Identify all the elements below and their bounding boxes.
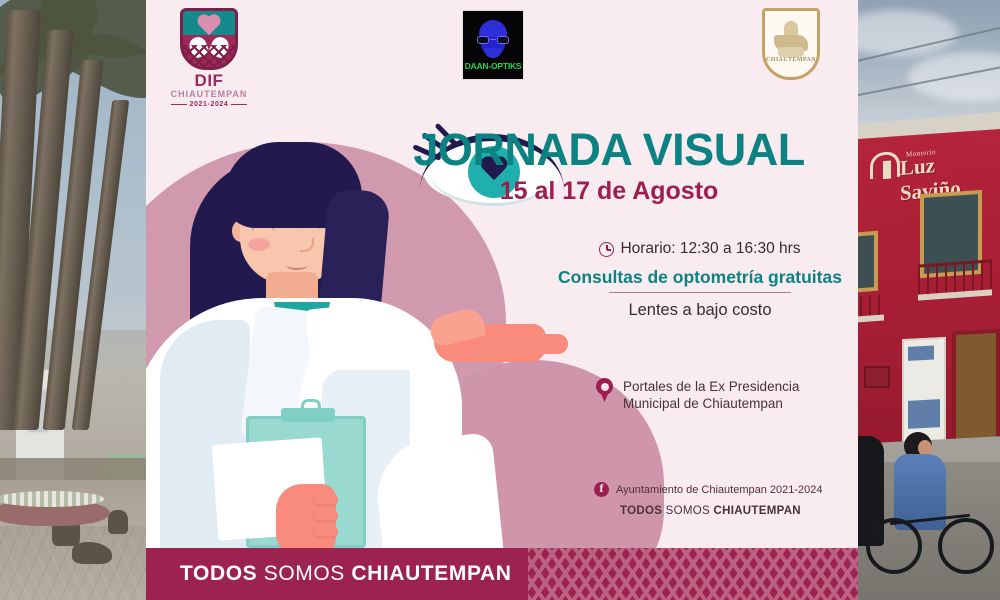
facebook-handle: Ayuntamiento de Chiautempan 2021-2024 bbox=[616, 484, 823, 496]
finger bbox=[312, 493, 338, 506]
heart-icon bbox=[196, 15, 222, 39]
map-pin-icon bbox=[596, 378, 613, 402]
bottom-slogan: TODOS SOMOS CHIAUTEMPAN bbox=[180, 562, 512, 586]
face-with-sunglasses-icon bbox=[476, 20, 510, 58]
bike-wheel bbox=[866, 518, 922, 574]
lens bbox=[477, 36, 489, 44]
background-photo-left bbox=[0, 0, 146, 600]
poster-graphic bbox=[908, 345, 934, 360]
free-service-text: Consultas de optometría gratuitas bbox=[558, 267, 842, 288]
beard bbox=[484, 48, 502, 58]
free-service-wrap: Consultas de optometría gratuitas bbox=[550, 258, 850, 288]
bottom-slogan-light: SOMOS bbox=[257, 562, 351, 585]
balcony-railing bbox=[918, 259, 992, 300]
facebook-icon[interactable] bbox=[594, 482, 609, 497]
finger bbox=[312, 509, 338, 522]
social-block: Ayuntamiento de Chiautempan 2021-2024 TO… bbox=[594, 482, 823, 517]
chiautempan-crest-logo: CHIAUTEMPAN bbox=[758, 8, 824, 86]
bottom-slogan-bold-2: CHIAUTEMPAN bbox=[351, 562, 511, 585]
address-text: Portales de la Ex Presidencia Municipal … bbox=[623, 378, 799, 412]
low-cost-text: Lentes a bajo costo bbox=[550, 301, 850, 320]
bottom-slogan-bold-1: TODOS bbox=[180, 562, 257, 585]
window bbox=[858, 231, 878, 293]
smile-mouth bbox=[286, 260, 308, 270]
finger bbox=[312, 525, 338, 538]
schedule-row: Horario: 12:30 a 16:30 hrs bbox=[550, 240, 850, 258]
cheek-blush bbox=[248, 238, 270, 251]
slogan-bold-1: TODOS bbox=[620, 505, 662, 517]
crest-part bbox=[778, 47, 804, 57]
wall-plaque bbox=[864, 366, 890, 388]
clock-icon bbox=[599, 242, 614, 257]
zigzag-pattern bbox=[183, 45, 235, 67]
schedule-text: Horario: 12:30 a 16:30 hrs bbox=[620, 240, 800, 258]
hair bbox=[479, 20, 507, 37]
event-dates: 15 al 17 de Agosto bbox=[374, 176, 844, 206]
fingers bbox=[530, 334, 568, 354]
info-block: Horario: 12:30 a 16:30 hrs Consultas de … bbox=[550, 240, 850, 320]
daan-optiks-logo: DAAN-OPTIKS bbox=[462, 10, 524, 80]
dif-name: DIF bbox=[166, 72, 252, 89]
headline-block: JORNADA VISUAL 15 al 17 de Agosto bbox=[374, 126, 844, 206]
poster-screenshot: Monterío Luz Saviño desde 19 bbox=[0, 0, 1000, 600]
flower-planter bbox=[0, 500, 110, 526]
open-hand-presenting bbox=[434, 312, 562, 370]
person-silhouette bbox=[108, 510, 128, 534]
address-line-2: Municipal de Chiautempan bbox=[623, 396, 783, 411]
hand-holding-clipboard bbox=[276, 484, 336, 556]
dif-logo-text: DIF CHIAUTEMPAN 2021-2024 bbox=[166, 72, 252, 110]
municipal-crest-shield-icon: CHIAUTEMPAN bbox=[762, 8, 820, 80]
event-poster: DIF CHIAUTEMPAN 2021-2024 DAAN-OPTIKS bbox=[146, 0, 858, 600]
facebook-row[interactable]: Ayuntamiento de Chiautempan 2021-2024 bbox=[594, 482, 823, 497]
slogan-bold-2: CHIAUTEMPAN bbox=[714, 505, 801, 517]
crest-figure bbox=[772, 21, 810, 59]
bike-wheel bbox=[938, 518, 994, 574]
background-photo-right: Monterío Luz Saviño desde 19 bbox=[858, 0, 1000, 600]
address-line-1: Portales de la Ex Presidencia bbox=[623, 379, 799, 394]
page-title: JORNADA VISUAL bbox=[374, 126, 844, 174]
dif-city: CHIAUTEMPAN bbox=[166, 89, 252, 100]
lens bbox=[497, 36, 509, 44]
logo-row: DIF CHIAUTEMPAN 2021-2024 DAAN-OPTIKS bbox=[146, 0, 858, 112]
balcony-railing bbox=[858, 295, 884, 324]
crest-label: CHIAUTEMPAN bbox=[765, 57, 817, 63]
bicycle bbox=[864, 512, 996, 592]
sunglasses-icon bbox=[477, 36, 509, 44]
herringbone-pattern bbox=[528, 548, 858, 600]
poster-graphic bbox=[908, 399, 940, 429]
bottom-banner: TODOS SOMOS CHIAUTEMPAN bbox=[146, 548, 858, 600]
daan-optiks-name: DAAN-OPTIKS bbox=[465, 61, 522, 71]
clipboard-clamp bbox=[281, 408, 335, 422]
social-slogan: TODOS SOMOS CHIAUTEMPAN bbox=[620, 505, 823, 517]
slogan-light: SOMOS bbox=[662, 505, 713, 517]
address-block: Portales de la Ex Presidencia Municipal … bbox=[596, 378, 799, 412]
dif-logo: DIF CHIAUTEMPAN 2021-2024 bbox=[166, 8, 252, 108]
heart-in-hands-shield-icon bbox=[180, 8, 238, 70]
dif-years: 2021-2024 bbox=[166, 100, 252, 110]
